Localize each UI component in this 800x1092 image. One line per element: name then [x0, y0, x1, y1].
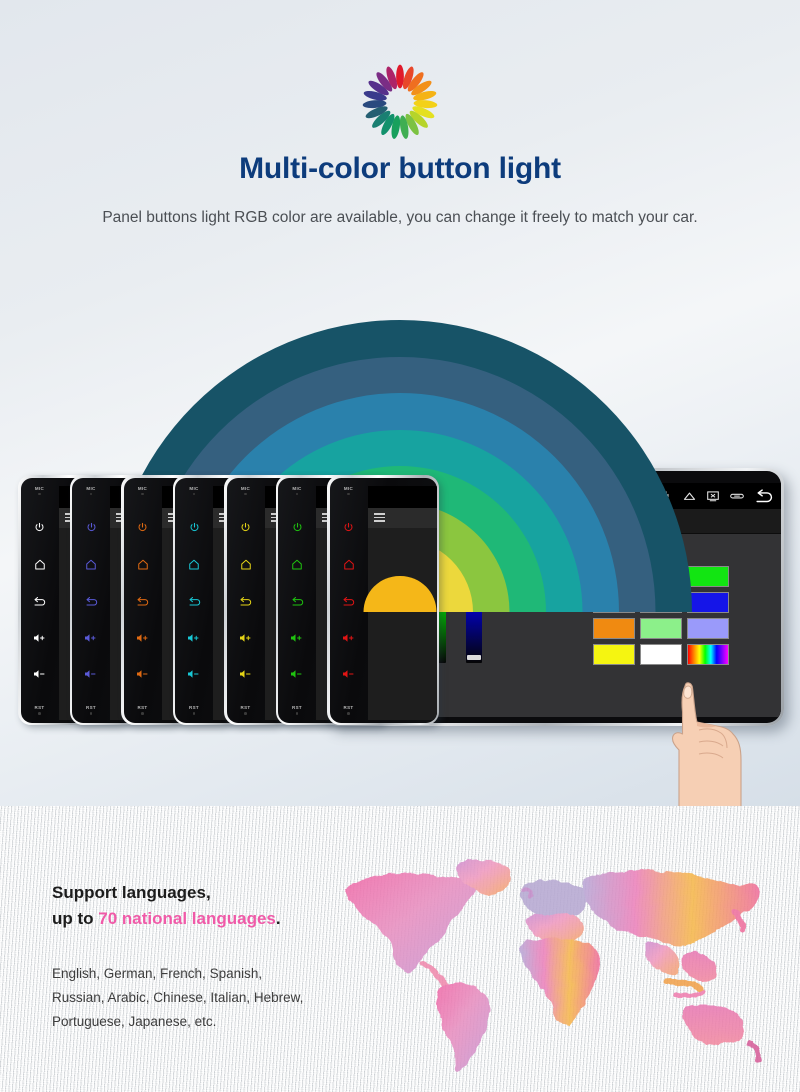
- eject-icon[interactable]: [683, 491, 696, 502]
- back-icon[interactable]: [136, 597, 149, 607]
- swatch-lightgreen[interactable]: [640, 618, 682, 639]
- languages-count-highlight: 70 national languages: [98, 909, 276, 928]
- back-icon[interactable]: [342, 597, 355, 607]
- volume-up-icon[interactable]: [136, 633, 150, 643]
- swatch-white[interactable]: [640, 644, 682, 665]
- home-icon[interactable]: [85, 559, 97, 570]
- world-map-watercolor: [330, 838, 790, 1088]
- languages-heading: Support languages, up to 70 national lan…: [52, 880, 281, 932]
- volume-down-icon[interactable]: [342, 669, 356, 679]
- swatch-yellow[interactable]: [593, 644, 635, 665]
- languages-list-line2: Russian, Arabic, Chinese, Italian, Hebre…: [52, 986, 303, 1010]
- swatch-orange[interactable]: [593, 618, 635, 639]
- volume-down-icon[interactable]: [290, 669, 304, 679]
- volume-up-icon[interactable]: [290, 633, 304, 643]
- power-icon[interactable]: [189, 522, 200, 533]
- power-icon[interactable]: [343, 522, 354, 533]
- reset-label[interactable]: RST: [241, 706, 251, 715]
- reset-label[interactable]: RST: [86, 706, 96, 715]
- volume-up-icon[interactable]: [33, 633, 47, 643]
- reset-label[interactable]: RST: [344, 706, 354, 715]
- swatch-row: [593, 644, 729, 665]
- reset-label[interactable]: RST: [189, 706, 199, 715]
- mic-label: MIC: [241, 487, 250, 496]
- languages-heading-line1: Support languages,: [52, 880, 281, 906]
- languages-list: English, German, French, Spanish, Russia…: [52, 962, 303, 1034]
- back-icon[interactable]: [85, 597, 98, 607]
- volume-down-icon[interactable]: [187, 669, 201, 679]
- power-icon[interactable]: [86, 522, 97, 533]
- home-icon[interactable]: [34, 559, 46, 570]
- mic-label: MIC: [292, 487, 301, 496]
- hero-section: Multi-color button light Panel buttons l…: [0, 0, 800, 806]
- dvd-icon[interactable]: [730, 492, 744, 500]
- mini-unit-button-panel: MIC: [278, 478, 316, 723]
- mic-label: MIC: [86, 487, 95, 496]
- power-icon[interactable]: [137, 522, 148, 533]
- languages-heading-prefix: up to: [52, 909, 98, 928]
- mini-unit-button-panel: MIC: [124, 478, 162, 723]
- screen-off-icon[interactable]: [707, 491, 719, 502]
- volume-down-icon[interactable]: [239, 669, 253, 679]
- mic-label: MIC: [138, 487, 147, 496]
- back-icon[interactable]: [188, 597, 201, 607]
- pointing-hand-icon: [655, 668, 751, 806]
- mini-unit-button-panel: MIC: [227, 478, 265, 723]
- power-icon[interactable]: [292, 522, 303, 533]
- home-icon[interactable]: [137, 559, 149, 570]
- mini-unit-button-panel: MIC: [330, 478, 368, 723]
- languages-heading-line2: up to 70 national languages.: [52, 906, 281, 932]
- volume-down-icon[interactable]: [84, 669, 98, 679]
- volume-up-icon[interactable]: [239, 633, 253, 643]
- mic-label: MIC: [344, 487, 353, 496]
- volume-up-icon[interactable]: [187, 633, 201, 643]
- volume-down-icon[interactable]: [136, 669, 150, 679]
- color-wheel-petal: [396, 65, 404, 89]
- swatch-row: [593, 618, 729, 639]
- home-icon[interactable]: [291, 559, 303, 570]
- languages-list-line1: English, German, French, Spanish,: [52, 962, 303, 986]
- blue-slider-thumb[interactable]: [467, 655, 481, 660]
- back-icon[interactable]: [291, 597, 304, 607]
- mic-label: MIC: [189, 487, 198, 496]
- reset-label[interactable]: RST: [138, 706, 148, 715]
- power-icon[interactable]: [240, 522, 251, 533]
- swatch-periwinkle[interactable]: [687, 618, 729, 639]
- page-title: Multi-color button light: [0, 152, 800, 186]
- volume-up-icon[interactable]: [84, 633, 98, 643]
- page-subtitle: Panel buttons light RGB color are availa…: [100, 205, 700, 230]
- reset-label[interactable]: RST: [292, 706, 302, 715]
- mini-unit-button-panel: MIC: [21, 478, 59, 723]
- home-icon[interactable]: [240, 559, 252, 570]
- power-icon[interactable]: [34, 522, 45, 533]
- volume-down-icon[interactable]: [33, 669, 47, 679]
- mini-unit-button-panel: MIC: [72, 478, 110, 723]
- home-icon[interactable]: [188, 559, 200, 570]
- mini-unit-button-panel: MIC: [175, 478, 213, 723]
- back-icon[interactable]: [239, 597, 252, 607]
- mic-label: MIC: [35, 487, 44, 496]
- back-icon[interactable]: [33, 597, 46, 607]
- languages-heading-suffix: .: [276, 909, 281, 928]
- volume-up-icon[interactable]: [342, 633, 356, 643]
- swatch-blue[interactable]: [687, 592, 729, 613]
- reset-label[interactable]: RST: [35, 706, 45, 715]
- swatch-rainbow[interactable]: [687, 644, 729, 665]
- back-icon[interactable]: [755, 489, 775, 504]
- color-wheel-icon: [356, 58, 444, 146]
- languages-list-line3: Portuguese, Japanese, etc.: [52, 1010, 303, 1034]
- home-icon[interactable]: [343, 559, 355, 570]
- hamburger-menu-icon: [374, 513, 385, 522]
